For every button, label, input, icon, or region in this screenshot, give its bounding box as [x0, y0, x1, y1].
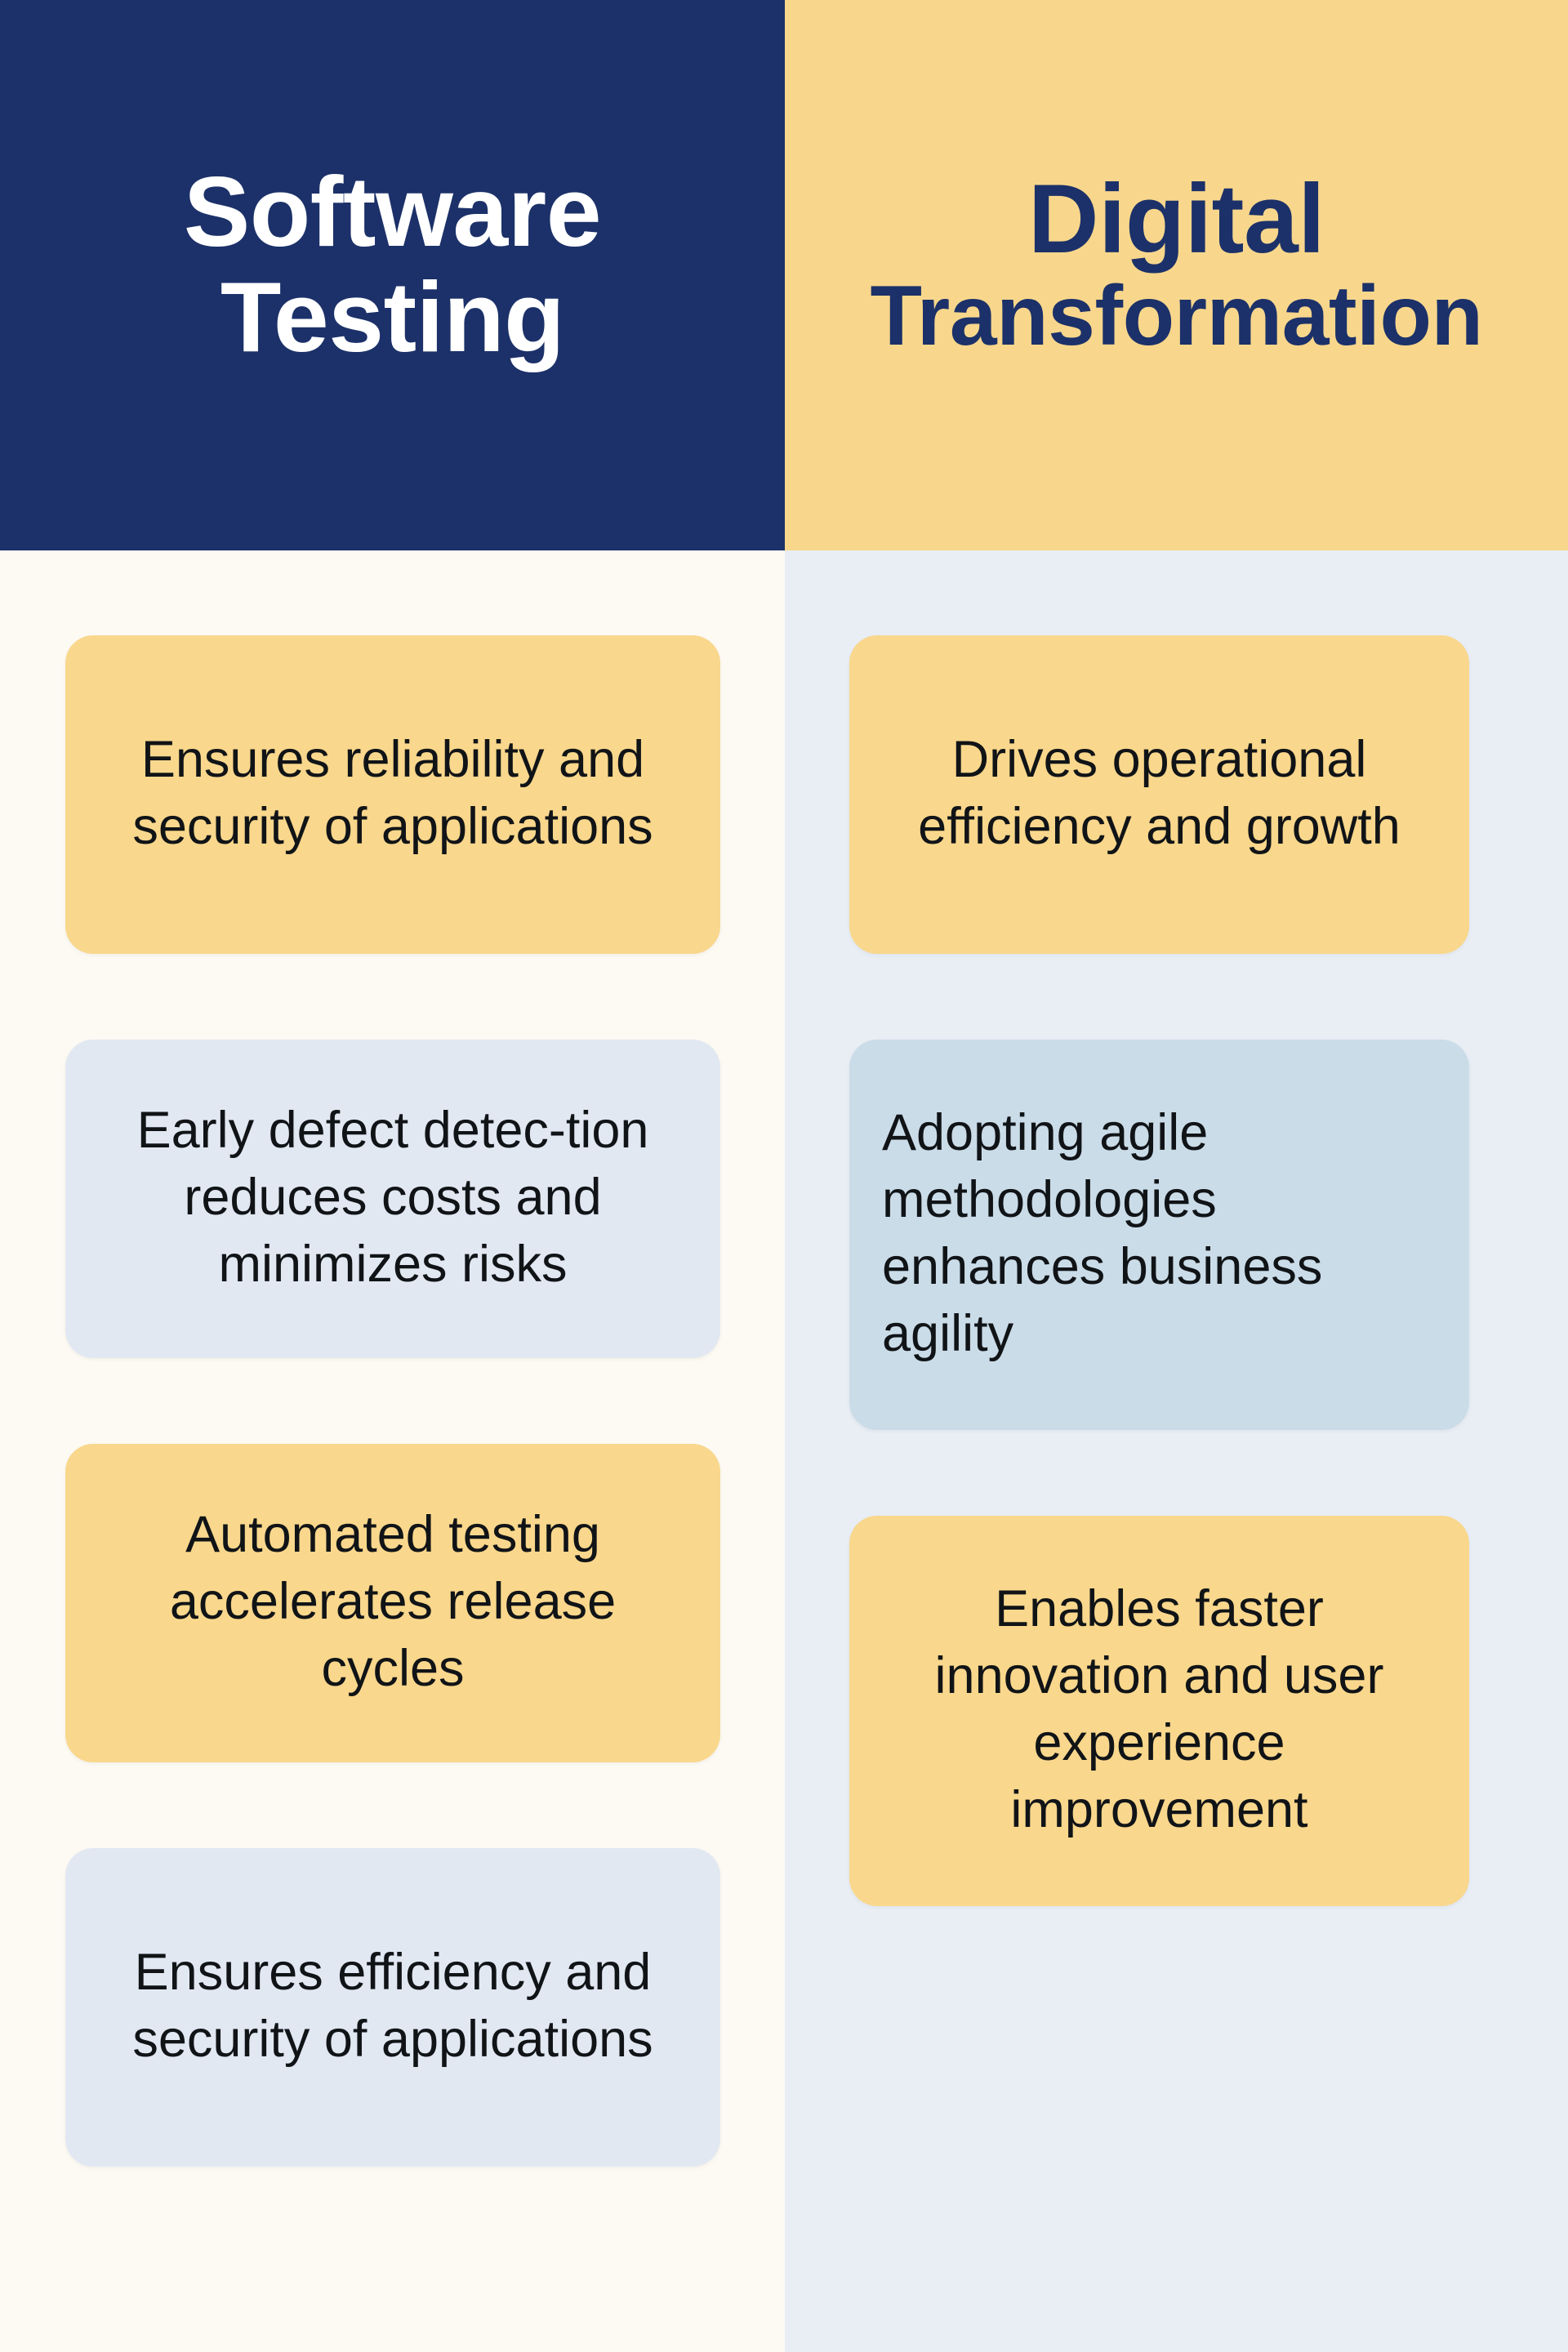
comparison-infographic: Software Testing Ensures reliability and…: [0, 0, 1568, 2352]
column-header-digital-transformation: Digital Transformation: [785, 0, 1568, 550]
card-stack-software-testing: Ensures reliability and security of appl…: [0, 550, 785, 2352]
card-left-2[interactable]: Early defect detec-tion reduces costs an…: [65, 1040, 720, 1358]
card-right-3[interactable]: Enables faster innovation and user exper…: [849, 1516, 1469, 1906]
card-right-1[interactable]: Drives operational efficiency and growth: [849, 635, 1469, 954]
card-right-1-text: Drives operational efficiency and growth: [882, 727, 1437, 861]
column-title-line-1: Software: [184, 159, 601, 265]
card-left-1-text: Ensures reliability and security of appl…: [98, 727, 688, 861]
column-title-line-2: Transformation: [871, 271, 1483, 361]
card-stack-digital-transformation: Drives operational efficiency and growth…: [785, 550, 1568, 2352]
card-right-2-text: Adopting agile methodologies enhances bu…: [882, 1100, 1437, 1368]
column-title-line-2: Testing: [220, 265, 564, 370]
card-right-2[interactable]: Adopting agile methodologies enhances bu…: [849, 1040, 1469, 1430]
card-left-2-text: Early defect detec-tion reduces costs an…: [98, 1098, 688, 1298]
card-left-4[interactable]: Ensures efficiency and security of appli…: [65, 1848, 720, 2167]
card-right-3-text: Enables faster innovation and user exper…: [882, 1576, 1437, 1844]
card-left-3[interactable]: Automated testing accelerates release cy…: [65, 1444, 720, 1762]
column-software-testing: Software Testing Ensures reliability and…: [0, 0, 785, 2352]
card-left-3-text: Automated testing accelerates release cy…: [98, 1502, 688, 1703]
column-digital-transformation: Digital Transformation Drives operationa…: [785, 0, 1568, 2352]
card-left-1[interactable]: Ensures reliability and security of appl…: [65, 635, 720, 954]
card-left-4-text: Ensures efficiency and security of appli…: [98, 1940, 688, 2074]
column-title-line-1: Digital: [1028, 167, 1325, 271]
column-header-software-testing: Software Testing: [0, 0, 785, 550]
